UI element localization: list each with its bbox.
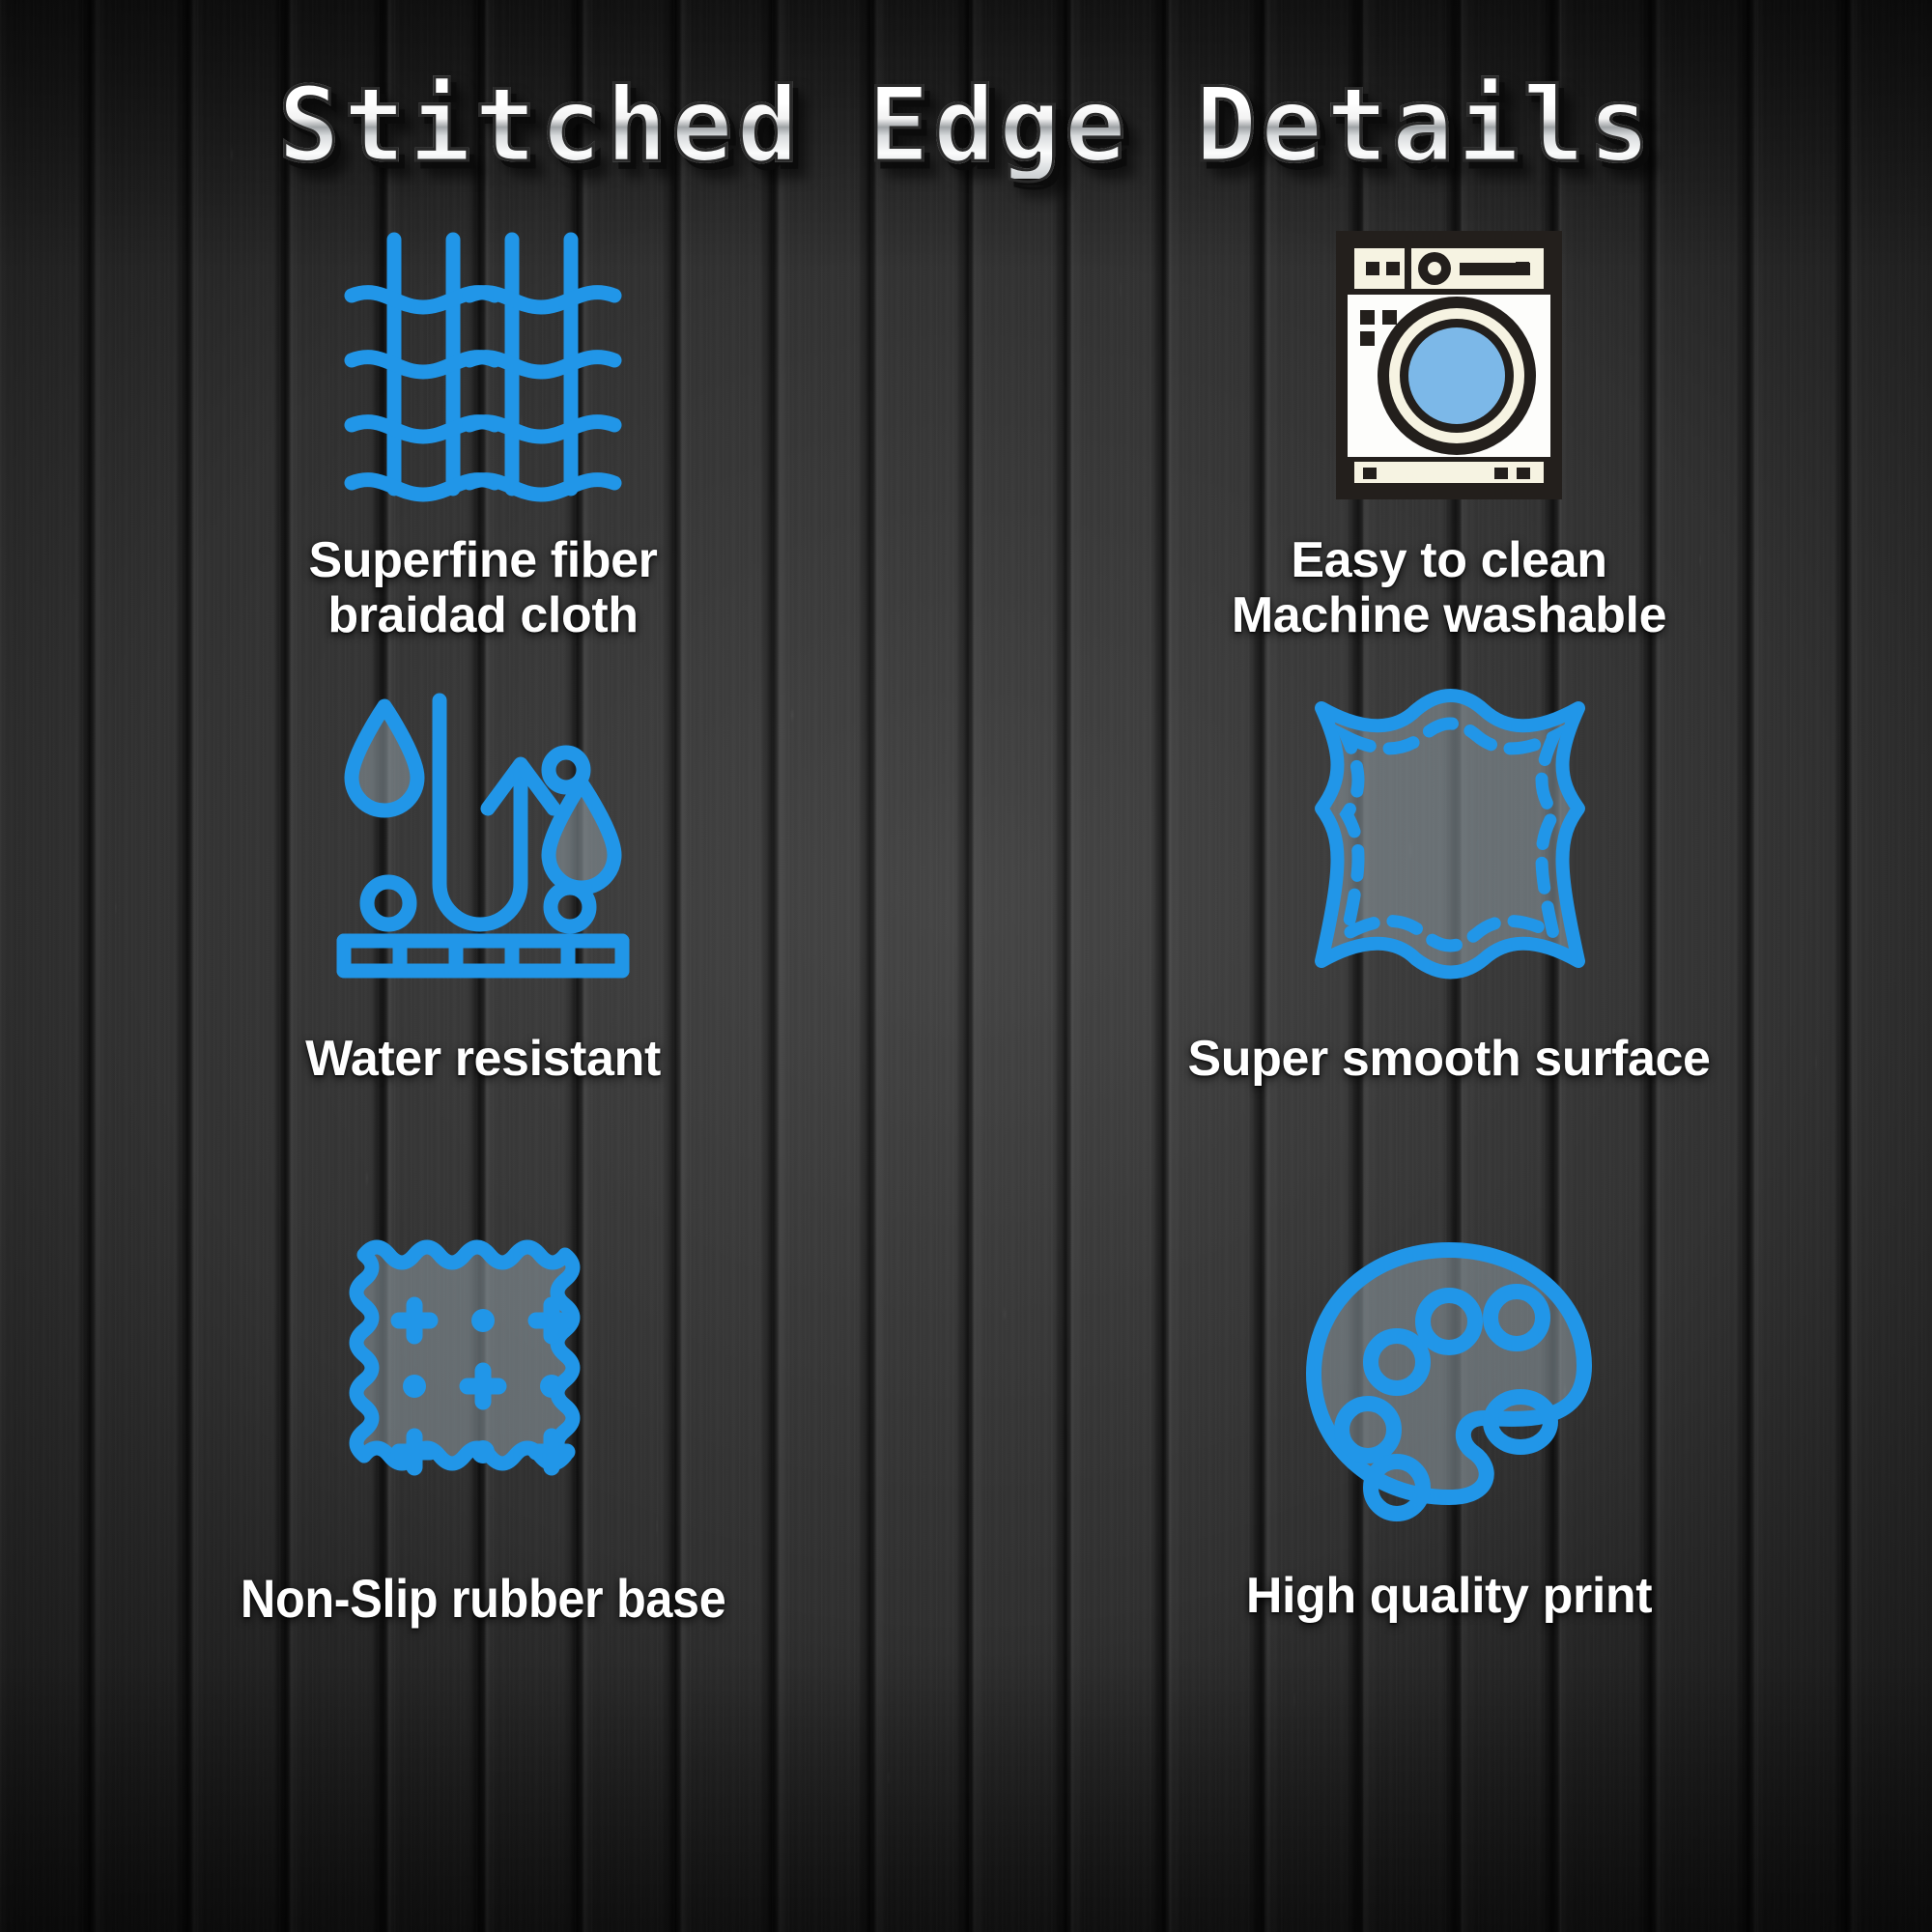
infographic-canvas: Stitched Edge Details xyxy=(0,0,1932,1932)
feature-non-slip-base: Non-Slip rubber base xyxy=(0,1215,966,1737)
feature-label: Super smooth surface xyxy=(1187,1032,1710,1087)
paint-palette-icon xyxy=(1304,1229,1594,1519)
washing-machine-icon xyxy=(1328,220,1570,510)
feature-label: High quality print xyxy=(1246,1569,1652,1624)
feature-high-quality-print: High quality print xyxy=(966,1215,1932,1737)
title-container: Stitched Edge Details xyxy=(0,71,1932,179)
feature-grid: Superfine fiber braidad cloth xyxy=(0,220,1932,1920)
feature-label: Non-Slip rubber base xyxy=(241,1569,725,1629)
rubber-base-texture-icon xyxy=(343,1229,623,1519)
water-droplet-repel-icon xyxy=(338,680,628,989)
feature-superfine-fiber: Superfine fiber braidad cloth xyxy=(0,220,966,674)
feature-label: Easy to clean Machine washable xyxy=(1232,533,1666,643)
feature-machine-washable: Easy to clean Machine washable xyxy=(966,220,1932,674)
feature-smooth-surface: Super smooth surface xyxy=(966,674,1932,1215)
feature-water-resistant: Water resistant xyxy=(0,674,966,1215)
feature-label: Superfine fiber braidad cloth xyxy=(309,533,658,643)
woven-fabric-icon xyxy=(338,220,628,510)
page-title: Stitched Edge Details xyxy=(278,71,1654,179)
stitched-leather-hide-icon xyxy=(1304,680,1594,989)
feature-label: Water resistant xyxy=(305,1032,661,1087)
